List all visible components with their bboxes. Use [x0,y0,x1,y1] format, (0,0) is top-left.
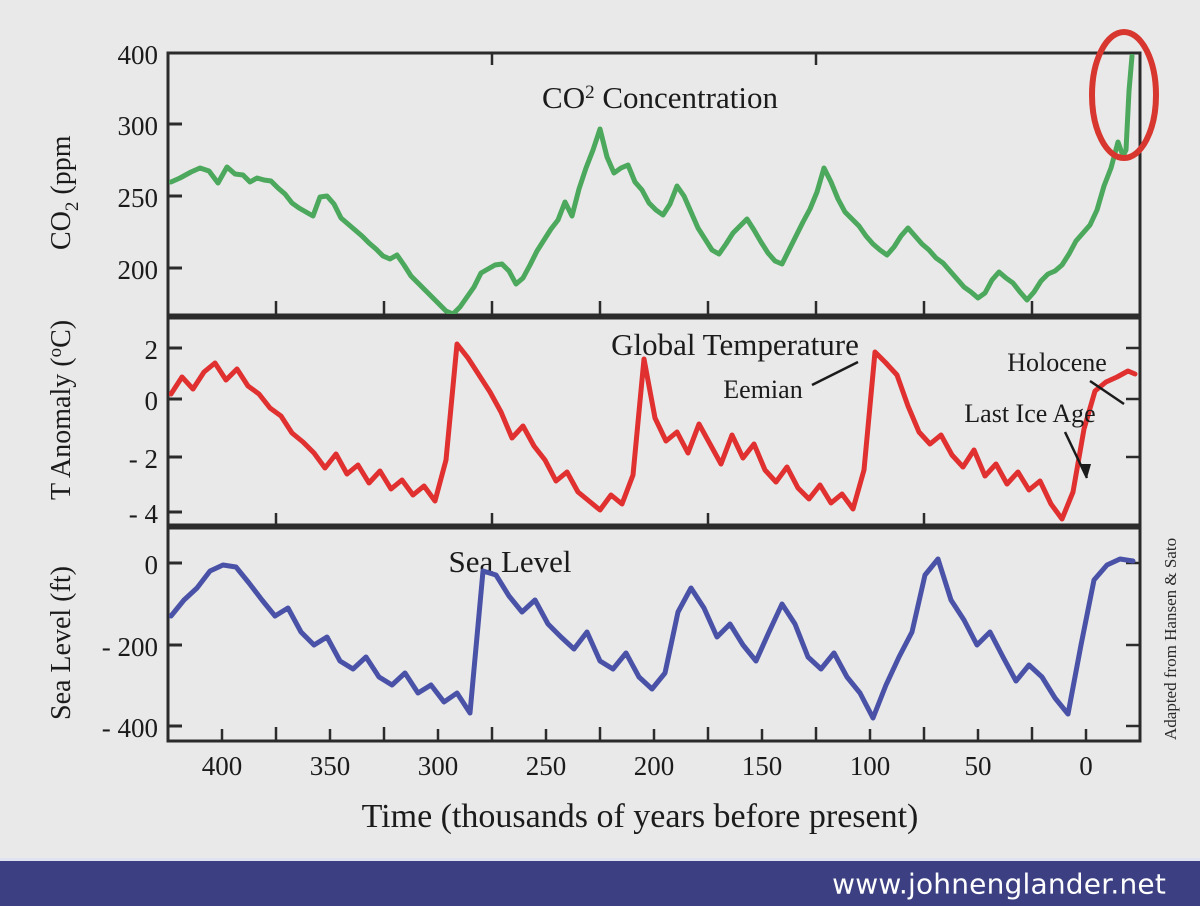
svg-text:T Anomaly (oC): T Anomaly (oC) [45,320,77,500]
co2-ytick-300: 300 [118,111,159,141]
co2-axis-title-suffix: (ppm [46,135,77,201]
xtick-200: 200 [634,751,675,781]
co2-axis-title-prefix: CO [46,211,77,250]
figure-credit-text: Adapted from Hansen & Sato [1161,538,1180,740]
temp-ytick-2: 2 [145,335,159,365]
chart-canvas: 400 300 250 200 CO2 (ppm CO2 Concentrati… [0,0,1200,858]
xtick-250: 250 [526,751,567,781]
co2-title-prefix: CO [542,80,585,115]
temp-ytick-minus4: - 4 [129,499,159,529]
annotation-last-ice-age-label: Last Ice Age [964,399,1095,428]
xtick-150: 150 [742,751,783,781]
paleoclimate-figure: 400 300 250 200 CO2 (ppm CO2 Concentrati… [0,0,1200,858]
annotation-holocene-label: Holocene [1007,348,1107,377]
sea-ytick-minus400: - 400 [102,713,158,743]
xtick-100: 100 [850,751,891,781]
temp-axis-title-prefix: T Anomaly ( [46,357,77,500]
co2-ytick-250: 250 [118,183,159,213]
sea-axis-title-text: Sea Level (ft) [46,566,77,720]
x-axis-title: Time (thousands of years before present) [362,798,919,835]
website-url[interactable]: www.johnenglander.net [832,867,1166,900]
figure-credit: Adapted from Hansen & Sato [1161,538,1180,740]
temp-axis-title: T Anomaly (oC) [45,320,77,500]
sea-ytick-minus200: - 200 [102,632,158,662]
annotation-eemian-label: Eemian [723,375,802,404]
sea-panel-title: Sea Level [448,544,571,579]
co2-title-sup: 2 [585,82,595,103]
co2-panel-title: CO2 Concentration [542,80,778,115]
temp-ytick-0: 0 [145,386,159,416]
xtick-50: 50 [965,751,992,781]
footer-bar: www.johnenglander.net [0,861,1200,906]
xtick-300: 300 [418,751,459,781]
co2-title-suffix: Concentration [595,80,779,115]
co2-ytick-200: 200 [118,255,159,285]
sea-ytick-0: 0 [145,550,159,580]
temp-axis-title-suffix: C) [46,320,77,348]
co2-axis-title-sub: 2 [62,202,83,212]
temp-axis-title-sup: o [45,348,66,358]
temp-panel-title: Global Temperature [611,327,859,362]
temp-ytick-minus2: - 2 [129,444,158,474]
xtick-0: 0 [1079,751,1093,781]
sea-axis-title: Sea Level (ft) [46,566,77,720]
xtick-350: 350 [310,751,351,781]
co2-ytick-400: 400 [118,40,159,70]
chart-page: 400 300 250 200 CO2 (ppm CO2 Concentrati… [0,0,1200,906]
xtick-400: 400 [202,751,243,781]
